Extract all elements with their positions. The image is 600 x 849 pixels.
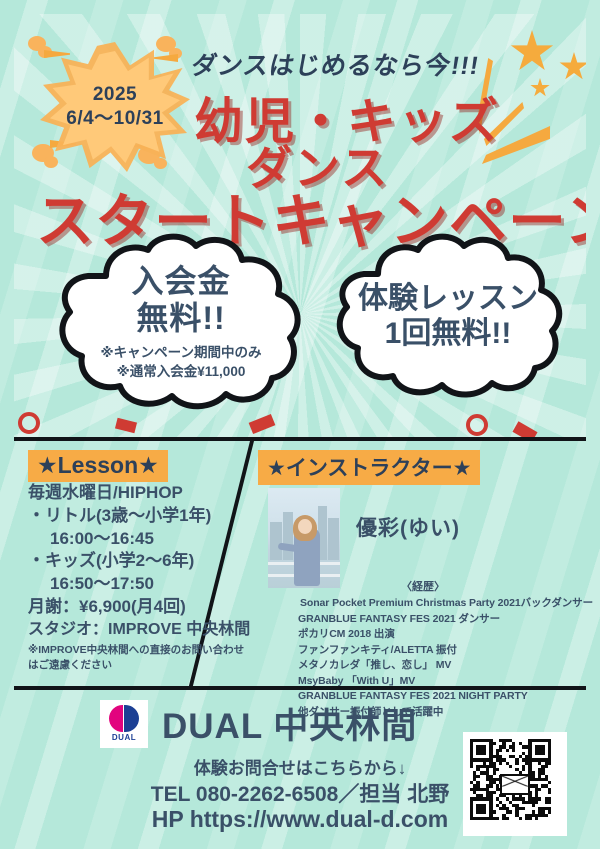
lesson-note: ※IMPROVE中央林間への直接のお問い合わせはご遠慮ください bbox=[28, 643, 250, 672]
qr-code[interactable] bbox=[463, 732, 567, 836]
qr-module bbox=[538, 797, 541, 800]
lesson-section: ★Lesson★ 毎週水曜日/HIPHOP ・リトル(3歳〜小学1年) 16:0… bbox=[28, 450, 250, 672]
lesson-item-3: ・キッズ(小学2〜6年) bbox=[28, 550, 250, 573]
flyer-root: 2025 6/4〜10/31 ダンスはじめるなら今!!! 幼児・キッズ ダンス … bbox=[0, 0, 600, 849]
qr-module bbox=[496, 817, 499, 820]
dual-mark-icon bbox=[109, 705, 139, 732]
credit-3: ファンファンキティ/ALETTA 振付 bbox=[298, 643, 588, 659]
photo-person-face bbox=[298, 519, 312, 534]
qr-module bbox=[506, 817, 509, 820]
lesson-list: 毎週水曜日/HIPHOP ・リトル(3歳〜小学1年) 16:00〜16:45 ・… bbox=[28, 482, 250, 640]
lesson-item-2: 16:00〜16:45 bbox=[28, 528, 250, 551]
qr-module bbox=[506, 749, 509, 752]
header-section: 2025 6/4〜10/31 ダンスはじめるなら今!!! 幼児・キッズ ダンス … bbox=[14, 14, 586, 437]
instructor-section: ★インストラクター★ 優彩(ゆい) 〈経歴〉 Sonar Pocket Prem… bbox=[258, 450, 588, 485]
star-medium-icon bbox=[559, 52, 586, 82]
qr-module bbox=[493, 742, 496, 745]
qr-module bbox=[493, 791, 496, 794]
date-starburst-badge: 2025 6/4〜10/31 bbox=[40, 42, 190, 172]
brand-row: DUAL DUAL 中央林間 bbox=[100, 698, 417, 749]
qr-module bbox=[548, 762, 551, 765]
credit-2: ポカリCM 2018 出演 bbox=[298, 627, 588, 643]
mail-envelope-icon bbox=[500, 774, 530, 795]
star-large-icon bbox=[510, 30, 554, 74]
cloud-shape-2 bbox=[322, 232, 574, 400]
qr-module bbox=[496, 768, 499, 771]
lesson-item-1: ・リトル(3歳〜小学1年) bbox=[28, 505, 250, 528]
lesson-item-0: 毎週水曜日/HIPHOP bbox=[28, 482, 250, 505]
instructor-name: 優彩(ゆい) bbox=[356, 512, 460, 542]
qr-module bbox=[545, 765, 548, 768]
lesson-heading: ★Lesson★ bbox=[28, 450, 168, 482]
confetti-ring-left bbox=[18, 412, 40, 434]
divider-top bbox=[14, 437, 586, 441]
qr-module bbox=[538, 788, 541, 791]
confetti-bar-3 bbox=[115, 418, 137, 434]
dual-logo-wordmark: DUAL bbox=[112, 733, 136, 742]
photo-building-1 bbox=[270, 522, 282, 560]
qr-module bbox=[548, 810, 551, 813]
instructor-heading: ★インストラクター★ bbox=[258, 450, 480, 485]
qr-module bbox=[493, 810, 496, 813]
qr-module bbox=[522, 768, 525, 771]
qr-module bbox=[499, 762, 502, 765]
qr-module bbox=[483, 752, 486, 755]
brand-title: DUAL 中央林間 bbox=[162, 698, 417, 749]
instructor-photo bbox=[268, 488, 340, 588]
qr-module bbox=[499, 749, 502, 752]
tagline: ダンスはじめるなら今!!! bbox=[189, 46, 482, 82]
confetti-ring-right bbox=[466, 414, 488, 436]
cloud-shape-1 bbox=[46, 232, 316, 412]
qr-module bbox=[489, 784, 492, 787]
qr-module bbox=[548, 801, 551, 804]
qr-module bbox=[515, 762, 518, 765]
qr-module bbox=[532, 804, 535, 807]
confetti-bar-1 bbox=[249, 414, 276, 434]
qr-module bbox=[509, 765, 512, 768]
qr-module bbox=[476, 775, 479, 778]
dual-logo: DUAL bbox=[100, 700, 148, 748]
qr-module bbox=[522, 807, 525, 810]
campaign-dates: 2025 6/4〜10/31 bbox=[40, 42, 190, 172]
lesson-item-4: 16:50〜17:50 bbox=[28, 573, 250, 596]
lesson-item-6: スタジオ：IMPROVE 中央林間 bbox=[28, 619, 250, 640]
dual-mark-left-half bbox=[109, 705, 123, 732]
campaign-range: 6/4〜10/31 bbox=[66, 107, 163, 131]
qr-module bbox=[535, 817, 538, 820]
offer-cloud-2: 体験レッスン 1回無料!! bbox=[322, 232, 574, 400]
qr-module bbox=[528, 817, 531, 820]
qr-module bbox=[535, 801, 538, 804]
qr-module bbox=[519, 817, 522, 820]
qr-module bbox=[541, 752, 544, 755]
qr-module bbox=[548, 791, 551, 794]
photo-building-4 bbox=[328, 518, 339, 560]
qr-module bbox=[509, 810, 512, 813]
qr-module bbox=[545, 814, 548, 817]
credit-5: MsyBaby 「With U」MV bbox=[298, 674, 588, 690]
qr-module bbox=[548, 781, 551, 784]
credit-4: メタノカレダ「推し、恋し」 MV bbox=[298, 658, 588, 674]
offer-cloud-1: 入会金 無料!! ※キャンペーン期間中のみ ※通常入会金¥11,000 bbox=[46, 232, 316, 412]
credit-0: Sonar Pocket Premium Christmas Party 202… bbox=[298, 596, 588, 612]
credit-1: GRANBLUE FANTASY FES 2021 ダンサー bbox=[298, 612, 588, 628]
photo-building-2 bbox=[283, 512, 293, 560]
lesson-item-5: 月謝：¥6,900(月4回) bbox=[28, 596, 250, 619]
qr-module bbox=[483, 810, 486, 813]
credits-heading: 〈経歴〉 bbox=[258, 578, 588, 594]
confetti-bar-2 bbox=[512, 421, 537, 437]
qr-module bbox=[493, 771, 496, 774]
qr-module bbox=[470, 765, 473, 768]
star-small-icon bbox=[530, 78, 550, 98]
dual-mark-right-half bbox=[124, 705, 139, 732]
qr-module bbox=[512, 749, 515, 752]
campaign-year: 2025 bbox=[93, 83, 137, 107]
